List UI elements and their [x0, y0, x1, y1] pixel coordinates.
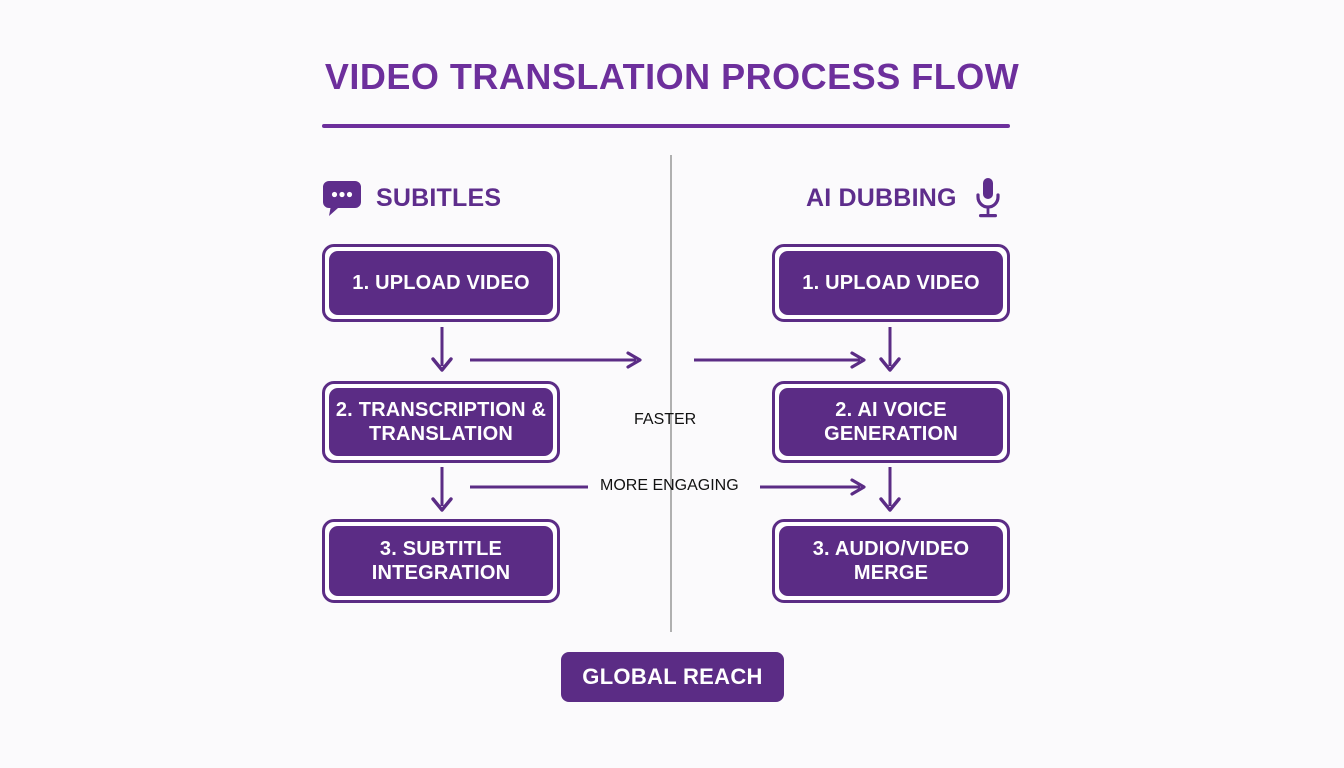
arrow-down-left-2 — [424, 466, 460, 518]
step-box-right-3-label: 3. AUDIO/VIDEO MERGE — [779, 526, 1003, 596]
title-underline-rule — [322, 124, 1010, 128]
arrow-line-engaging-left — [470, 475, 590, 499]
step-box-left-2-label: 2. TRANSCRIPTION & TRANSLATION — [329, 388, 553, 456]
step-box-right-1[interactable]: 1. UPLOAD VIDEO — [772, 244, 1010, 322]
page-title: VIDEO TRANSLATION PROCESS FLOW — [0, 56, 1344, 98]
step-box-right-3[interactable]: 3. AUDIO/VIDEO MERGE — [772, 519, 1010, 603]
arrow-down-right-1 — [872, 326, 908, 378]
column-header-label-right: AI DUBBING — [806, 184, 957, 213]
global-reach-box[interactable]: GLOBAL REACH — [561, 652, 784, 702]
arrow-right-faster-right — [694, 348, 870, 372]
step-box-left-3-label: 3. SUBTITLE INTEGRATION — [329, 526, 553, 596]
column-header-ai-dubbing: AI DUBBING — [806, 176, 1005, 220]
step-box-right-2-label: 2. AI VOICE GENERATION — [779, 388, 1003, 456]
column-divider — [670, 155, 672, 632]
cross-label-more-engaging: MORE ENGAGING — [600, 477, 739, 495]
step-box-right-1-label: 1. UPLOAD VIDEO — [779, 251, 1003, 315]
arrow-right-faster-left — [470, 348, 646, 372]
microphone-icon — [971, 176, 1005, 220]
step-box-left-1-label: 1. UPLOAD VIDEO — [329, 251, 553, 315]
arrow-down-right-2 — [872, 466, 908, 518]
step-box-right-2[interactable]: 2. AI VOICE GENERATION — [772, 381, 1010, 463]
step-box-left-1[interactable]: 1. UPLOAD VIDEO — [322, 244, 560, 322]
arrow-down-left-1 — [424, 326, 460, 378]
column-header-subtitles: SUBITLES — [322, 176, 501, 220]
column-header-label-left: SUBITLES — [376, 184, 501, 213]
diagram-canvas: VIDEO TRANSLATION PROCESS FLOW SUBITLES … — [0, 0, 1344, 768]
step-box-left-3[interactable]: 3. SUBTITLE INTEGRATION — [322, 519, 560, 603]
arrow-right-engaging-right — [760, 475, 870, 499]
cross-label-faster: FASTER — [634, 411, 696, 429]
step-box-left-2[interactable]: 2. TRANSCRIPTION & TRANSLATION — [322, 381, 560, 463]
global-reach-label: GLOBAL REACH — [582, 664, 762, 690]
speech-bubble-icon — [322, 179, 362, 217]
